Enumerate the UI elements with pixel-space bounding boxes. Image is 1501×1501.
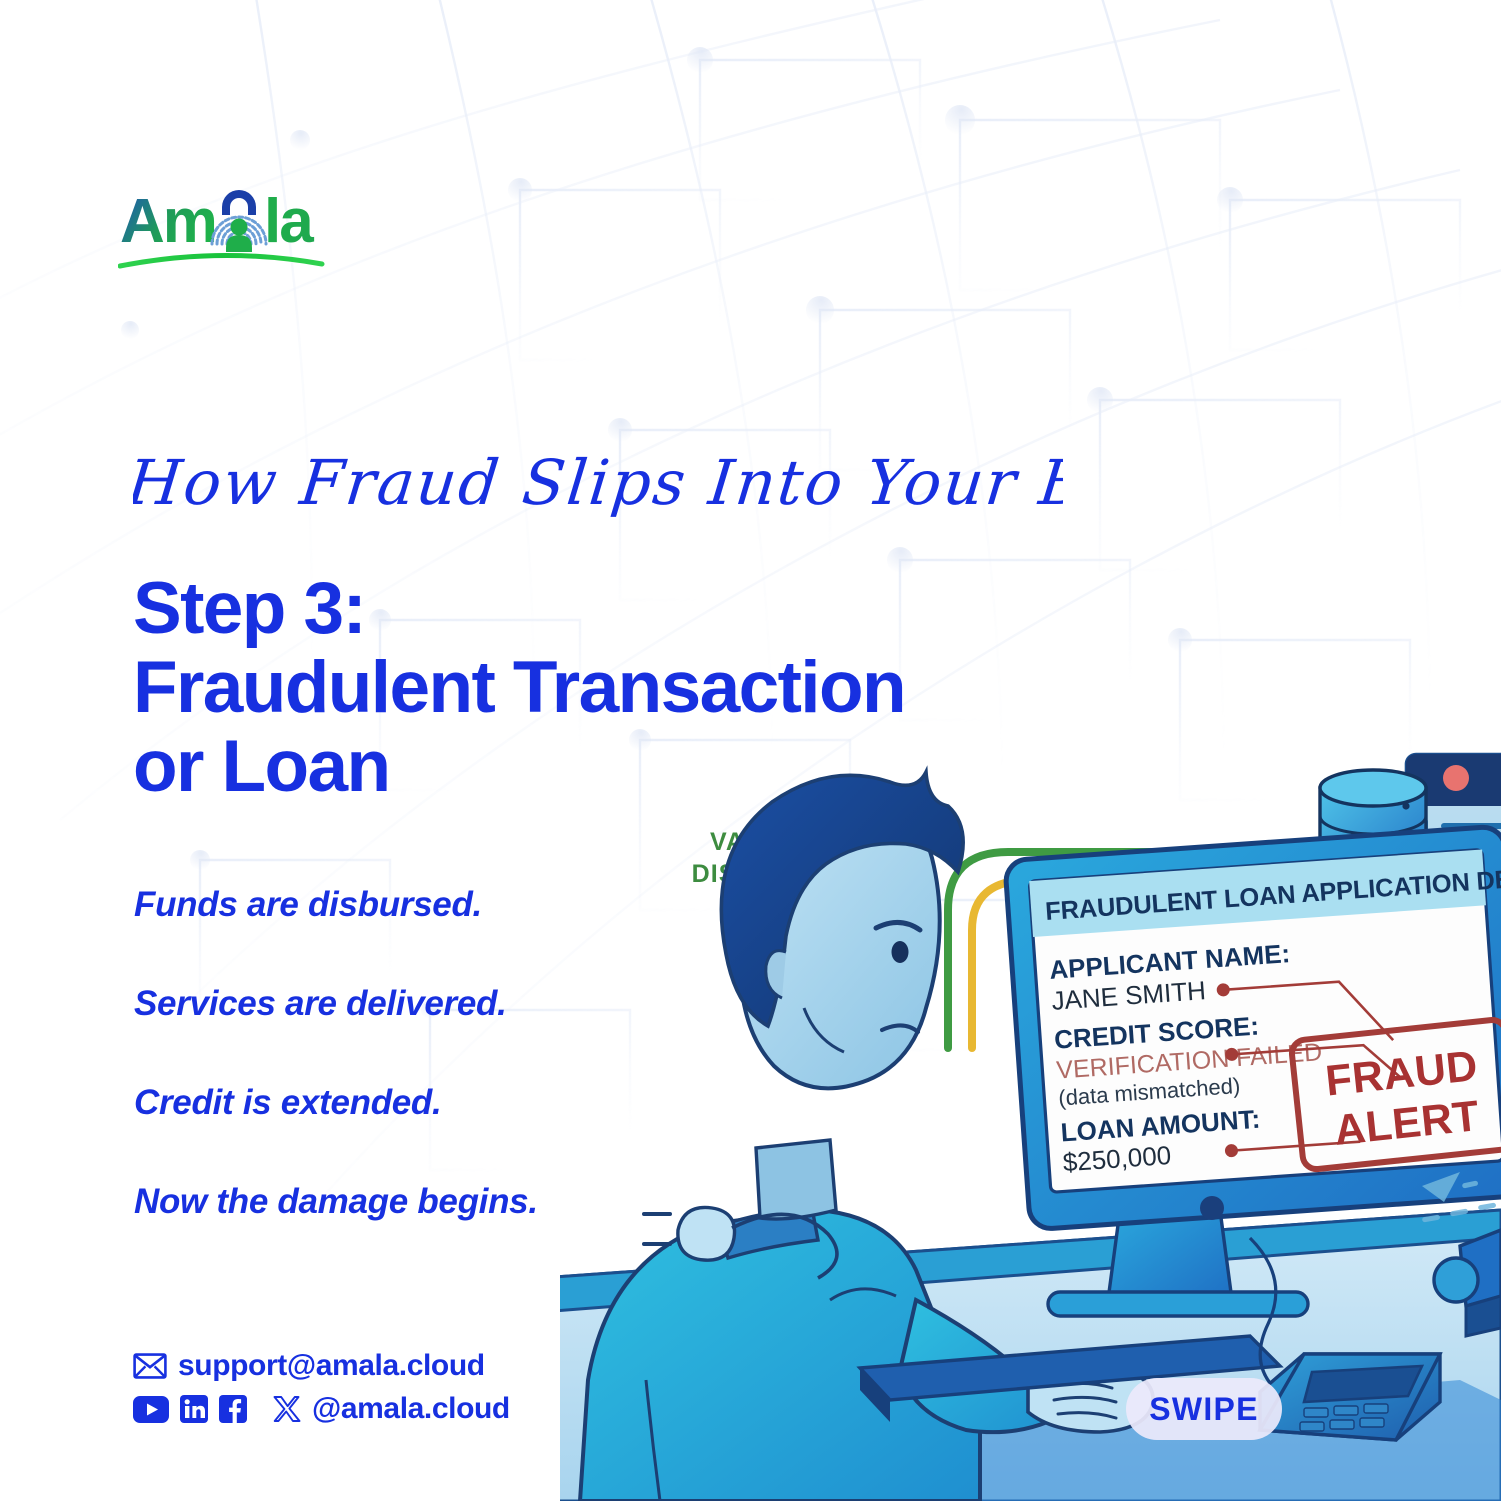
linkedin-icon[interactable] bbox=[180, 1395, 208, 1423]
pos-terminal bbox=[1260, 1354, 1440, 1440]
poster-canvas: Am la How Fraud Slips Into Your Business… bbox=[0, 0, 1501, 1501]
script-headline-text: How Fraud Slips Into Your Business bbox=[133, 446, 1063, 519]
svg-text:la: la bbox=[264, 187, 314, 256]
svg-text:Am: Am bbox=[120, 187, 216, 256]
amala-logo: Am la bbox=[118, 172, 328, 272]
envelope-icon bbox=[133, 1353, 167, 1379]
footer-handle-text[interactable]: @amala.cloud bbox=[312, 1394, 510, 1424]
facebook-icon[interactable] bbox=[219, 1395, 247, 1423]
footer-email-text[interactable]: support@amala.cloud bbox=[178, 1351, 485, 1381]
footer-email-row: support@amala.cloud bbox=[133, 1351, 510, 1381]
footer-contact: support@amala.cloud @amala.cloud bbox=[133, 1351, 510, 1424]
fraud-scene-illustration: VALIDATION DISREGARDED SECURITY DATABASE… bbox=[560, 740, 1501, 1501]
footer-social-row: @amala.cloud bbox=[133, 1394, 510, 1424]
x-twitter-icon[interactable] bbox=[273, 1395, 301, 1423]
youtube-icon[interactable] bbox=[133, 1396, 169, 1423]
heading-line-1: Step 3: bbox=[133, 570, 1033, 649]
heading-line-2: Fraudulent Transaction bbox=[133, 649, 1033, 728]
script-headline: How Fraud Slips Into Your Business bbox=[133, 432, 1063, 532]
swipe-badge-label: SWIPE bbox=[1149, 1391, 1259, 1427]
swipe-badge[interactable]: SWIPE bbox=[1126, 1378, 1282, 1440]
